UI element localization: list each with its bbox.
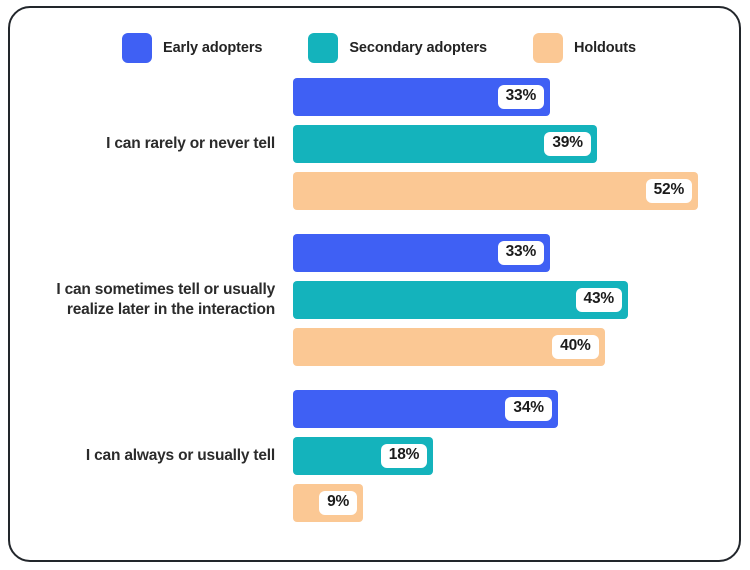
bar-row: 33% xyxy=(293,78,743,116)
bar-row: 34% xyxy=(293,390,743,428)
bar-secondary-adopters[interactable]: 39% xyxy=(293,125,597,163)
bar-group: I can sometimes tell or usually realize … xyxy=(10,234,743,366)
bar-value-label: 39% xyxy=(544,132,590,155)
bar-row: 39% xyxy=(293,125,743,163)
category-label: I can sometimes tell or usually realize … xyxy=(10,280,293,321)
legend-swatch-icon-secondary-adopters xyxy=(308,33,338,63)
bar-value-label: 40% xyxy=(552,335,598,358)
bar-row: 9% xyxy=(293,484,743,522)
bar-early-adopters[interactable]: 34% xyxy=(293,390,558,428)
category-label-line: realize later in the interaction xyxy=(67,301,275,318)
bar-value-label: 18% xyxy=(381,444,427,467)
legend-label-early-adopters: Early adopters xyxy=(163,40,262,56)
bar-row: 43% xyxy=(293,281,743,319)
bar-group: I can always or usually tell 34% 18% 9% xyxy=(10,390,743,522)
bar-group-bars: 33% 43% 40% xyxy=(293,234,743,366)
bar-holdouts[interactable]: 9% xyxy=(293,484,363,522)
bar-chart-plot-area: I can rarely or never tell 33% 39% 52% xyxy=(10,78,743,522)
bar-early-adopters[interactable]: 33% xyxy=(293,234,550,272)
bar-value-label: 43% xyxy=(576,288,622,311)
legend-swatch-icon-early-adopters xyxy=(122,33,152,63)
bar-group-bars: 34% 18% 9% xyxy=(293,390,743,522)
bar-value-label: 52% xyxy=(646,179,692,202)
legend-item-early-adopters[interactable]: Early adopters xyxy=(122,33,262,63)
category-label: I can rarely or never tell xyxy=(10,134,293,154)
legend-item-secondary-adopters[interactable]: Secondary adopters xyxy=(308,33,487,63)
legend-label-secondary-adopters: Secondary adopters xyxy=(349,40,487,56)
chart-legend: Early adopters Secondary adopters Holdou… xyxy=(122,32,636,64)
bar-value-label: 33% xyxy=(498,85,544,108)
legend-item-holdouts[interactable]: Holdouts xyxy=(533,33,636,63)
bar-value-label: 9% xyxy=(319,491,357,514)
legend-swatch-icon-holdouts xyxy=(533,33,563,63)
bar-secondary-adopters[interactable]: 18% xyxy=(293,437,433,475)
category-label-line: I can sometimes tell or usually xyxy=(56,281,275,298)
category-label-line: I can always or usually tell xyxy=(86,447,275,464)
category-label-line: I can rarely or never tell xyxy=(106,135,275,152)
bar-early-adopters[interactable]: 33% xyxy=(293,78,550,116)
bar-group-bars: 33% 39% 52% xyxy=(293,78,743,210)
chart-frame: Early adopters Secondary adopters Holdou… xyxy=(8,6,741,562)
legend-label-holdouts: Holdouts xyxy=(574,40,636,56)
bar-value-label: 33% xyxy=(498,241,544,264)
bar-row: 40% xyxy=(293,328,743,366)
bar-holdouts[interactable]: 40% xyxy=(293,328,605,366)
bar-value-label: 34% xyxy=(505,397,551,420)
bar-row: 18% xyxy=(293,437,743,475)
category-label: I can always or usually tell xyxy=(10,446,293,466)
bar-holdouts[interactable]: 52% xyxy=(293,172,698,210)
bar-secondary-adopters[interactable]: 43% xyxy=(293,281,628,319)
bar-group: I can rarely or never tell 33% 39% 52% xyxy=(10,78,743,210)
bar-row: 52% xyxy=(293,172,743,210)
bar-row: 33% xyxy=(293,234,743,272)
